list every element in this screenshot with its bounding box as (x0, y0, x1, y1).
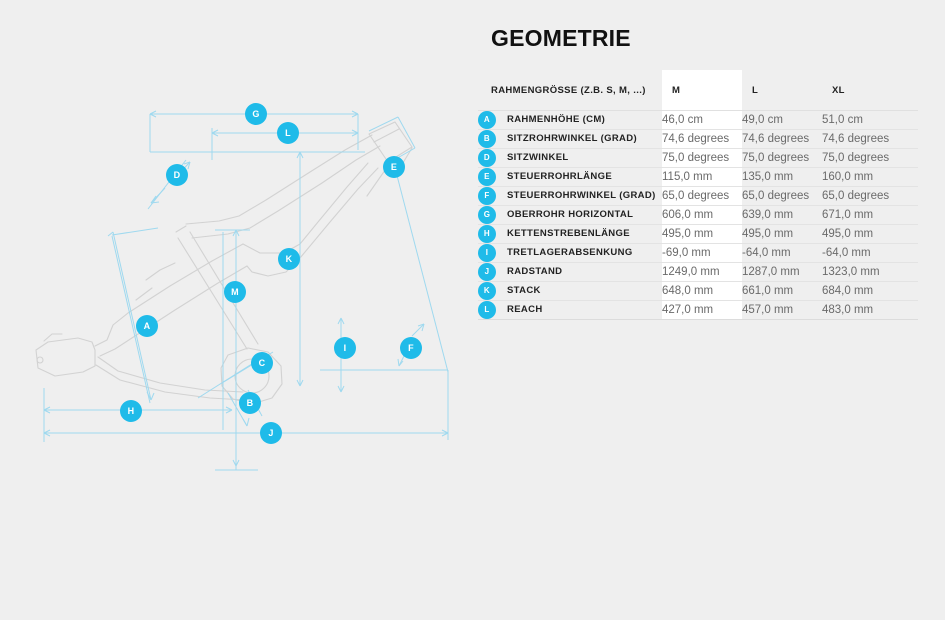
table-row: ESTEUERROHRLÄNGE115,0 mm135,0 mm160,0 mm (478, 168, 918, 187)
row-badge-l-icon: L (478, 301, 496, 319)
diagram-badge-a: A (136, 315, 158, 337)
diagram-badge-j: J (260, 422, 282, 444)
row-label-cell: LREACH (478, 301, 662, 320)
row-label-text: TRETLAGERABSENKUNG (507, 244, 633, 260)
row-value-xl: 684,0 mm (822, 282, 918, 301)
row-label-cell: ESTEUERROHRLÄNGE (478, 168, 662, 187)
row-label-cell: ITRETLAGERABSENKUNG (478, 244, 662, 263)
diagram-badge-c: C (251, 352, 273, 374)
row-badge-b-icon: B (478, 130, 496, 148)
row-label-text: OBERROHR HORIZONTAL (507, 206, 633, 222)
diagram-badge-b: B (239, 392, 261, 414)
bike-geometry-diagram: G L D E K M A I F C B H J (0, 0, 470, 620)
row-value-m: 606,0 mm (662, 206, 742, 225)
geometry-page: G L D E K M A I F C B H J GEOMETRIE RAHM… (0, 0, 945, 620)
row-label-text: RADSTAND (507, 263, 562, 279)
row-value-l: 661,0 mm (742, 282, 822, 301)
row-badge-j-icon: J (478, 263, 496, 281)
row-value-xl: 75,0 degrees (822, 149, 918, 168)
table-row: GOBERROHR HORIZONTAL606,0 mm639,0 mm671,… (478, 206, 918, 225)
row-value-l: -64,0 mm (742, 244, 822, 263)
row-label-cell: KSTACK (478, 282, 662, 301)
diagram-badge-e: E (383, 156, 405, 178)
row-value-l: 457,0 mm (742, 301, 822, 320)
row-badge-a-icon: A (478, 111, 496, 129)
table-body: ARAHMENHÖHE (CM)46,0 cm49,0 cm51,0 cmBSI… (478, 111, 918, 320)
bike-frame-drawing (0, 0, 470, 620)
row-value-m: 115,0 mm (662, 168, 742, 187)
row-value-l: 495,0 mm (742, 225, 822, 244)
row-value-xl: -64,0 mm (822, 244, 918, 263)
row-badge-k-icon: K (478, 282, 496, 300)
header-framesize: RAHMENGRÖSSE (Z.B. S, M, ...) (478, 70, 662, 111)
row-value-xl: 495,0 mm (822, 225, 918, 244)
row-value-xl: 74,6 degrees (822, 130, 918, 149)
row-value-l: 74,6 degrees (742, 130, 822, 149)
row-label-text: STEUERROHRLÄNGE (507, 168, 612, 184)
row-value-m: 427,0 mm (662, 301, 742, 320)
row-value-l: 49,0 cm (742, 111, 822, 130)
geometry-table: RAHMENGRÖSSE (Z.B. S, M, ...) M L XL ARA… (478, 70, 918, 320)
row-value-m: 648,0 mm (662, 282, 742, 301)
table-row: DSITZWINKEL75,0 degrees75,0 degrees75,0 … (478, 149, 918, 168)
row-badge-f-icon: F (478, 187, 496, 205)
row-label-cell: GOBERROHR HORIZONTAL (478, 206, 662, 225)
row-label-text: RAHMENHÖHE (CM) (507, 111, 605, 127)
row-label-text: STEUERROHRWINKEL (GRAD) (507, 187, 656, 203)
row-value-l: 135,0 mm (742, 168, 822, 187)
row-badge-g-icon: G (478, 206, 496, 224)
row-value-l: 639,0 mm (742, 206, 822, 225)
row-label-text: KETTENSTREBENLÄNGE (507, 225, 630, 241)
diagram-badge-i: I (334, 337, 356, 359)
table-row: ITRETLAGERABSENKUNG-69,0 mm-64,0 mm-64,0… (478, 244, 918, 263)
row-badge-i-icon: I (478, 244, 496, 262)
table-header-row: RAHMENGRÖSSE (Z.B. S, M, ...) M L XL (478, 70, 918, 111)
row-value-m: 65,0 degrees (662, 187, 742, 206)
row-value-l: 75,0 degrees (742, 149, 822, 168)
header-size-m: M (662, 70, 742, 111)
table-row: HKETTENSTREBENLÄNGE495,0 mm495,0 mm495,0… (478, 225, 918, 244)
row-label-text: SITZROHRWINKEL (GRAD) (507, 130, 637, 146)
table-row: JRADSTAND1249,0 mm1287,0 mm1323,0 mm (478, 263, 918, 282)
table-row: KSTACK648,0 mm661,0 mm684,0 mm (478, 282, 918, 301)
row-value-xl: 65,0 degrees (822, 187, 918, 206)
row-value-m: 46,0 cm (662, 111, 742, 130)
diagram-badge-l: L (277, 122, 299, 144)
row-value-m: 495,0 mm (662, 225, 742, 244)
row-badge-d-icon: D (478, 149, 496, 167)
frame-outline-group (36, 122, 412, 404)
row-value-l: 65,0 degrees (742, 187, 822, 206)
diagram-badge-f: F (400, 337, 422, 359)
row-value-m: -69,0 mm (662, 244, 742, 263)
row-label-cell: HKETTENSTREBENLÄNGE (478, 225, 662, 244)
row-label-cell: JRADSTAND (478, 263, 662, 282)
diagram-badge-h: H (120, 400, 142, 422)
row-label-text: STACK (507, 282, 541, 298)
row-value-xl: 1323,0 mm (822, 263, 918, 282)
row-value-m: 1249,0 mm (662, 263, 742, 282)
row-value-xl: 671,0 mm (822, 206, 918, 225)
row-label-cell: DSITZWINKEL (478, 149, 662, 168)
table-row: LREACH427,0 mm457,0 mm483,0 mm (478, 301, 918, 320)
row-label-cell: ARAHMENHÖHE (CM) (478, 111, 662, 130)
header-size-l: L (742, 70, 822, 111)
row-value-xl: 160,0 mm (822, 168, 918, 187)
row-label-text: SITZWINKEL (507, 149, 569, 165)
row-value-l: 1287,0 mm (742, 263, 822, 282)
table-row: FSTEUERROHRWINKEL (GRAD)65,0 degrees65,0… (478, 187, 918, 206)
row-badge-h-icon: H (478, 225, 496, 243)
row-value-m: 75,0 degrees (662, 149, 742, 168)
diagram-badge-g: G (245, 103, 267, 125)
row-label-cell: BSITZROHRWINKEL (GRAD) (478, 130, 662, 149)
row-value-xl: 51,0 cm (822, 111, 918, 130)
page-title: GEOMETRIE (491, 25, 631, 52)
row-value-m: 74,6 degrees (662, 130, 742, 149)
row-label-text: REACH (507, 301, 543, 317)
diagram-badge-m: M (224, 281, 246, 303)
row-value-xl: 483,0 mm (822, 301, 918, 320)
diagram-badge-k: K (278, 248, 300, 270)
table-row: BSITZROHRWINKEL (GRAD)74,6 degrees74,6 d… (478, 130, 918, 149)
table-row: ARAHMENHÖHE (CM)46,0 cm49,0 cm51,0 cm (478, 111, 918, 130)
diagram-badge-d: D (166, 164, 188, 186)
header-size-xl: XL (822, 70, 918, 111)
row-label-cell: FSTEUERROHRWINKEL (GRAD) (478, 187, 662, 206)
table-header: RAHMENGRÖSSE (Z.B. S, M, ...) M L XL (478, 70, 918, 111)
row-badge-e-icon: E (478, 168, 496, 186)
